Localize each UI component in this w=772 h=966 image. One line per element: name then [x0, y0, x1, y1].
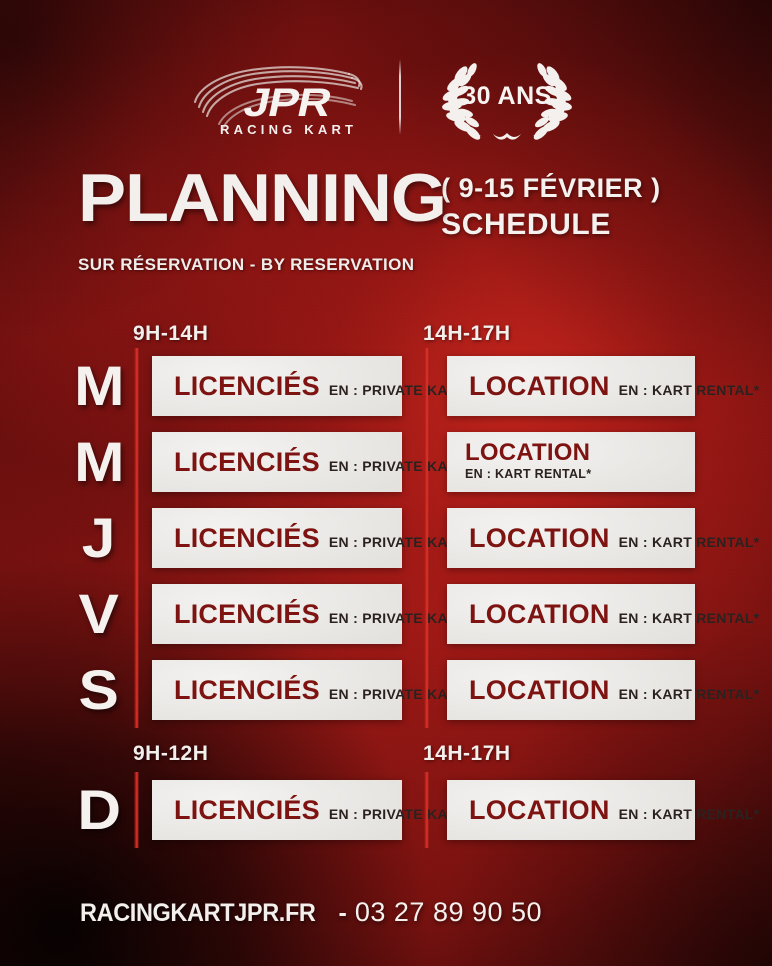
day-letter: M: [74, 358, 124, 414]
day-cell: V: [76, 576, 122, 652]
title-block: PLANNING ( 9-15 FÉVRIER ) SCHEDULE SUR R…: [78, 168, 718, 275]
slot-title: LOCATION: [469, 675, 610, 706]
column-rail-left: [134, 772, 139, 848]
schedule-row: M LICENCIÉS EN : PRIVATE KART* LOCATION …: [0, 348, 772, 424]
schedule-row: M LICENCIÉS EN : PRIVATE KART*: [0, 424, 772, 500]
day-letter: V: [79, 586, 119, 642]
slot-subtitle: EN : KART RENTAL*: [619, 610, 760, 626]
slot-title: LICENCIÉS: [174, 371, 320, 402]
day-cell: S: [76, 652, 122, 728]
slot-card-licencies[interactable]: LICENCIÉS EN : PRIVATE KART*: [152, 432, 402, 492]
column-rail-left: [134, 576, 139, 652]
jpr-racing-kart-logo: JPR RACING KART: [189, 54, 365, 140]
day-letter: S: [79, 662, 119, 718]
footer-contact: RACINGKARTJPR.FR - 03 27 89 90 50: [80, 897, 542, 928]
svg-text:JPR: JPR: [240, 81, 336, 125]
brand-header: JPR RACING KART: [0, 48, 772, 146]
slot-card-licencies[interactable]: LICENCIÉS EN : PRIVATE KART*: [152, 780, 402, 840]
column-headers-sunday: 9H-12H 14H-17H: [0, 742, 772, 772]
schedule-english-label: SCHEDULE: [441, 208, 661, 243]
slot-title: LOCATION: [469, 599, 610, 630]
slot-title: LOCATION: [465, 441, 590, 465]
slot-subtitle: EN : KART RENTAL*: [465, 465, 591, 484]
slot-card-location[interactable]: LOCATION EN : KART RENTAL*: [447, 660, 695, 720]
slot-card-location[interactable]: LOCATION EN : KART RENTAL*: [447, 780, 695, 840]
reservation-note: SUR RÉSERVATION - BY RESERVATION: [78, 255, 718, 275]
afternoon-time-header: 14H-17H: [423, 322, 511, 346]
phone-number[interactable]: 03 27 89 90 50: [355, 897, 542, 928]
column-headers-weekday: 9H-14H 14H-17H: [0, 322, 772, 348]
slot-title: LOCATION: [469, 523, 610, 554]
svg-text:RACING KART: RACING KART: [220, 122, 357, 137]
brand-divider: [399, 60, 401, 134]
column-rail-left: [134, 500, 139, 576]
footer-separator: -: [331, 899, 355, 928]
day-cell: D: [76, 772, 122, 848]
schedule-row: D LICENCIÉS EN : PRIVATE KART* LOCATION …: [0, 772, 772, 848]
slot-card-licencies[interactable]: LICENCIÉS EN : PRIVATE KART*: [152, 356, 402, 416]
slot-title: LICENCIÉS: [174, 795, 320, 826]
schedule-grid: 9H-14H 14H-17H M LICENCIÉS EN : PRIVATE …: [0, 322, 772, 848]
slot-card-licencies[interactable]: LICENCIÉS EN : PRIVATE KART*: [152, 660, 402, 720]
day-letter: M: [74, 434, 124, 490]
schedule-row: V LICENCIÉS EN : PRIVATE KART* LOCATION …: [0, 576, 772, 652]
page-title: PLANNING: [78, 170, 446, 227]
day-cell: M: [76, 348, 122, 424]
slot-card-location[interactable]: LOCATION EN : KART RENTAL*: [447, 508, 695, 568]
slot-subtitle: EN : KART RENTAL*: [619, 806, 760, 822]
slot-card-licencies[interactable]: LICENCIÉS EN : PRIVATE KART*: [152, 508, 402, 568]
slot-title: LICENCIÉS: [174, 675, 320, 706]
slot-title: LOCATION: [469, 795, 610, 826]
slot-title: LICENCIÉS: [174, 523, 320, 554]
day-letter: J: [82, 510, 116, 566]
column-rail-left: [134, 424, 139, 500]
day-cell: M: [76, 424, 122, 500]
date-range-label: ( 9-15 FÉVRIER ): [441, 174, 661, 202]
planning-poster: JPR RACING KART: [0, 0, 772, 966]
morning-time-header-sunday: 9H-12H: [133, 742, 208, 766]
schedule-row: J LICENCIÉS EN : PRIVATE KART* LOCATION …: [0, 500, 772, 576]
slot-card-location[interactable]: LOCATION EN : KART RENTAL*: [447, 584, 695, 644]
day-cell: J: [76, 500, 122, 576]
slot-card-licencies[interactable]: LICENCIÉS EN : PRIVATE KART*: [152, 584, 402, 644]
slot-title: LOCATION: [469, 371, 610, 402]
anniversary-label: 30 ANS: [462, 82, 552, 110]
column-rail-left: [134, 348, 139, 424]
schedule-row: S LICENCIÉS EN : PRIVATE KART* LOCATION …: [0, 652, 772, 728]
slot-card-location[interactable]: LOCATION EN : KART RENTAL*: [447, 356, 695, 416]
morning-time-header: 9H-14H: [133, 322, 208, 346]
slot-subtitle: EN : KART RENTAL*: [619, 382, 760, 398]
column-rail-left: [134, 652, 139, 728]
day-letter: D: [77, 782, 121, 838]
slot-subtitle: EN : KART RENTAL*: [619, 534, 760, 550]
website-link[interactable]: RACINGKARTJPR.FR: [80, 899, 316, 928]
slot-card-location[interactable]: LOCATION EN : KART RENTAL*: [447, 432, 695, 492]
anniversary-badge-30-ans: 30 ANS: [431, 54, 583, 140]
slot-title: LICENCIÉS: [174, 447, 320, 478]
slot-title: LICENCIÉS: [174, 599, 320, 630]
afternoon-time-header-sunday: 14H-17H: [423, 742, 511, 766]
slot-subtitle: EN : KART RENTAL*: [619, 686, 760, 702]
